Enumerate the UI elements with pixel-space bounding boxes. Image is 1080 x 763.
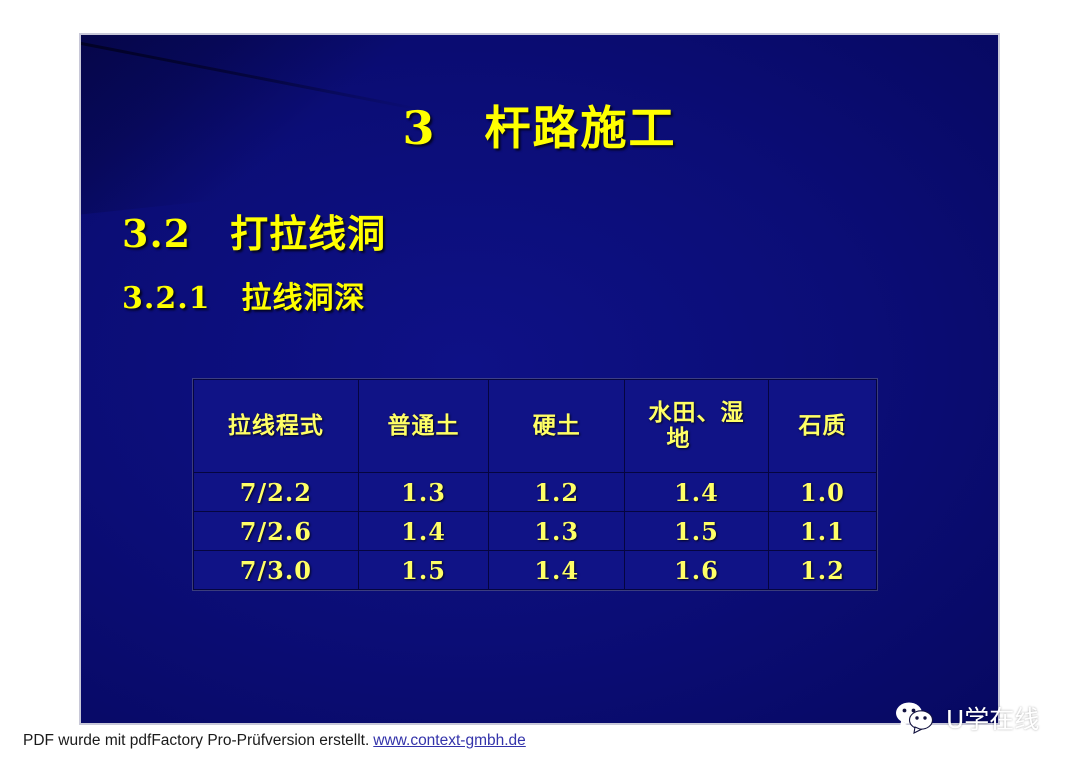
table-row: 7/3.0 1.5 1.4 1.6 1.2	[194, 551, 877, 590]
table-body: 7/2.2 1.3 1.2 1.4 1.0 7/2.6 1.4 1.3 1.5 …	[194, 473, 877, 590]
column-header-program: 拉线程式	[194, 380, 359, 473]
column-header-paddy-wetland-line1: 水田、湿	[648, 399, 744, 426]
pdf-footer-notice: PDF wurde mit pdfFactory Pro-Prüfversion…	[23, 732, 526, 750]
cell-ordinary-soil: 1.4	[358, 512, 489, 551]
cell-rock: 1.1	[768, 512, 876, 551]
cell-rock: 1.0	[768, 473, 876, 512]
slide-title: 3 杆路施工	[81, 92, 998, 158]
anchor-hole-depth-table: 拉线程式 普通土 硬土 水田、湿 地 石质 7/2.2 1.3 1.2 1.4 …	[193, 379, 877, 590]
footer-text: PDF wurde mit pdfFactory Pro-Prüfversion…	[23, 732, 369, 749]
footer-url-link[interactable]: www.context-gmbh.de	[373, 732, 526, 749]
table-header-row: 拉线程式 普通土 硬土 水田、湿 地 石质	[194, 380, 877, 473]
cell-program: 7/3.0	[194, 551, 359, 590]
cell-program: 7/2.6	[194, 512, 359, 551]
cell-ordinary-soil: 1.5	[358, 551, 489, 590]
presentation-slide: 3 杆路施工 3.2 打拉线洞 3.2.1 拉线洞深 拉线程式 普通土 硬土 水…	[79, 33, 1000, 725]
cell-paddy-wetland: 1.4	[625, 473, 769, 512]
table-row: 7/2.6 1.4 1.3 1.5 1.1	[194, 512, 877, 551]
column-header-paddy-wetland-line2: 地	[625, 426, 732, 452]
table-row: 7/2.2 1.3 1.2 1.4 1.0	[194, 473, 877, 512]
column-header-ordinary-soil: 普通土	[358, 380, 489, 473]
table-header: 拉线程式 普通土 硬土 水田、湿 地 石质	[194, 380, 877, 473]
cell-paddy-wetland: 1.6	[625, 551, 769, 590]
cell-rock: 1.2	[768, 551, 876, 590]
cell-hard-soil: 1.3	[489, 512, 625, 551]
cell-hard-soil: 1.2	[489, 473, 625, 512]
cell-hard-soil: 1.4	[489, 551, 625, 590]
section-heading-3-2-1: 3.2.1 拉线洞深	[122, 273, 366, 317]
section-heading-3-2: 3.2 打拉线洞	[122, 203, 386, 258]
column-header-rock: 石质	[768, 380, 876, 473]
column-header-hard-soil: 硬土	[489, 380, 625, 473]
cell-ordinary-soil: 1.3	[358, 473, 489, 512]
cell-program: 7/2.2	[194, 473, 359, 512]
cell-paddy-wetland: 1.5	[625, 512, 769, 551]
column-header-paddy-wetland: 水田、湿 地	[625, 380, 769, 473]
